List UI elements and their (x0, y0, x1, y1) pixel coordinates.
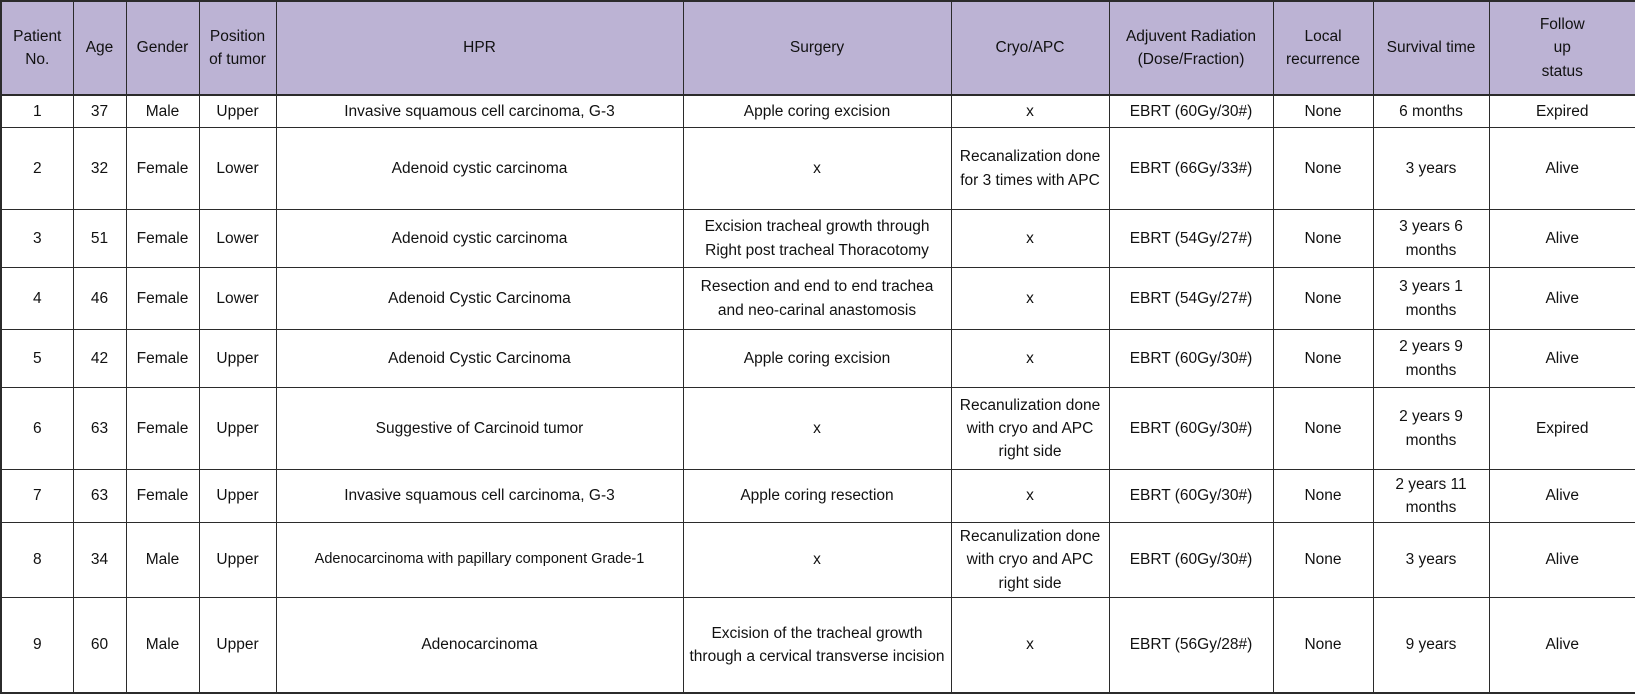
cell-position-of-tumor: Lower (199, 210, 276, 268)
cell-surgery: Excision of the tracheal growth through … (683, 597, 951, 693)
cell-adjuvent-radiation: EBRT (66Gy/33#) (1109, 128, 1273, 210)
column-header-position-of-tumor: Position of tumor (199, 1, 276, 95)
table-row: 9 60 Male Upper Adenocarcinoma Excision … (1, 597, 1635, 693)
column-header-survival-time: Survival time (1373, 1, 1489, 95)
cell-position-of-tumor: Upper (199, 523, 276, 598)
table-row: 7 63 Female Upper Invasive squamous cell… (1, 470, 1635, 523)
cell-survival-time: 3 years (1373, 523, 1489, 598)
table-body: 1 37 Male Upper Invasive squamous cell c… (1, 95, 1635, 693)
cell-gender: Female (126, 470, 199, 523)
cell-follow-up-status: Alive (1489, 210, 1635, 268)
cell-hpr: Invasive squamous cell carcinoma, G-3 (276, 470, 683, 523)
cell-adjuvent-radiation: EBRT (60Gy/30#) (1109, 388, 1273, 470)
cell-follow-up-status: Alive (1489, 597, 1635, 693)
header-line: Gender (137, 39, 189, 56)
cell-age: 42 (73, 330, 126, 388)
header-line: No. (25, 51, 49, 68)
cell-adjuvent-radiation: EBRT (60Gy/30#) (1109, 523, 1273, 598)
cell-patient-no: 3 (1, 210, 73, 268)
cell-gender: Female (126, 268, 199, 330)
cell-adjuvent-radiation: EBRT (56Gy/28#) (1109, 597, 1273, 693)
cell-gender: Male (126, 523, 199, 598)
header-line: up (1554, 39, 1571, 56)
cell-local-recurrence: None (1273, 95, 1373, 128)
cell-adjuvent-radiation: EBRT (60Gy/30#) (1109, 95, 1273, 128)
cell-hpr: Adenoid cystic carcinoma (276, 128, 683, 210)
cell-hpr: Invasive squamous cell carcinoma, G-3 (276, 95, 683, 128)
cell-surgery: Apple coring excision (683, 330, 951, 388)
header-line: Survival time (1387, 39, 1476, 56)
cell-follow-up-status: Alive (1489, 128, 1635, 210)
cell-cryo-apc: x (951, 470, 1109, 523)
table-row: 8 34 Male Upper Adenocarcinoma with papi… (1, 523, 1635, 598)
column-header-adjuvent-radiation: Adjuvent Radiation (Dose/Fraction) (1109, 1, 1273, 95)
cell-surgery: x (683, 128, 951, 210)
cell-position-of-tumor: Lower (199, 128, 276, 210)
cell-hpr: Adenoid Cystic Carcinoma (276, 330, 683, 388)
header-line: (Dose/Fraction) (1138, 51, 1245, 68)
cell-surgery: Excision tracheal growth through Right p… (683, 210, 951, 268)
header-line: Age (86, 39, 114, 56)
cell-follow-up-status: Alive (1489, 330, 1635, 388)
cell-surgery: Apple coring resection (683, 470, 951, 523)
cell-cryo-apc: Recanulization done with cryo and APC ri… (951, 388, 1109, 470)
table-row: 4 46 Female Lower Adenoid Cystic Carcino… (1, 268, 1635, 330)
header-line: HPR (463, 39, 496, 56)
cell-local-recurrence: None (1273, 388, 1373, 470)
column-header-gender: Gender (126, 1, 199, 95)
cell-position-of-tumor: Upper (199, 597, 276, 693)
header-line: Position (210, 28, 265, 45)
cell-local-recurrence: None (1273, 330, 1373, 388)
cell-surgery: Apple coring excision (683, 95, 951, 128)
cell-hpr: Adenoid cystic carcinoma (276, 210, 683, 268)
cell-survival-time: 2 years 11 months (1373, 470, 1489, 523)
cell-adjuvent-radiation: EBRT (54Gy/27#) (1109, 210, 1273, 268)
cell-gender: Female (126, 128, 199, 210)
table-row: 1 37 Male Upper Invasive squamous cell c… (1, 95, 1635, 128)
cell-follow-up-status: Alive (1489, 470, 1635, 523)
cell-patient-no: 4 (1, 268, 73, 330)
cell-survival-time: 3 years 1 months (1373, 268, 1489, 330)
cell-age: 34 (73, 523, 126, 598)
cell-gender: Male (126, 95, 199, 128)
column-header-surgery: Surgery (683, 1, 951, 95)
patient-clinical-data-table: Patient No. Age Gender Position of tumor… (0, 0, 1635, 694)
cell-position-of-tumor: Upper (199, 330, 276, 388)
cell-surgery: x (683, 523, 951, 598)
cell-survival-time: 2 years 9 months (1373, 388, 1489, 470)
header-row: Patient No. Age Gender Position of tumor… (1, 1, 1635, 95)
cell-patient-no: 5 (1, 330, 73, 388)
cell-patient-no: 9 (1, 597, 73, 693)
cell-position-of-tumor: Upper (199, 470, 276, 523)
cell-age: 60 (73, 597, 126, 693)
cell-local-recurrence: None (1273, 523, 1373, 598)
cell-patient-no: 8 (1, 523, 73, 598)
cell-patient-no: 1 (1, 95, 73, 128)
cell-gender: Female (126, 330, 199, 388)
cell-survival-time: 9 years (1373, 597, 1489, 693)
cell-cryo-apc: x (951, 268, 1109, 330)
cell-gender: Female (126, 210, 199, 268)
cell-adjuvent-radiation: EBRT (60Gy/30#) (1109, 330, 1273, 388)
table-row: 5 42 Female Upper Adenoid Cystic Carcino… (1, 330, 1635, 388)
cell-adjuvent-radiation: EBRT (60Gy/30#) (1109, 470, 1273, 523)
cell-cryo-apc: x (951, 330, 1109, 388)
cell-cryo-apc: x (951, 210, 1109, 268)
header-line: Patient (13, 28, 61, 45)
cell-local-recurrence: None (1273, 268, 1373, 330)
cell-survival-time: 6 months (1373, 95, 1489, 128)
cell-cryo-apc: x (951, 95, 1109, 128)
column-header-age: Age (73, 1, 126, 95)
cell-survival-time: 2 years 9 months (1373, 330, 1489, 388)
cell-surgery: x (683, 388, 951, 470)
cell-age: 63 (73, 470, 126, 523)
header-line: recurrence (1286, 51, 1360, 68)
column-header-patient-no: Patient No. (1, 1, 73, 95)
cell-patient-no: 2 (1, 128, 73, 210)
cell-gender: Male (126, 597, 199, 693)
cell-age: 63 (73, 388, 126, 470)
cell-surgery: Resection and end to end trachea and neo… (683, 268, 951, 330)
cell-hpr: Adenocarcinoma (276, 597, 683, 693)
header-line: Surgery (790, 39, 844, 56)
cell-age: 51 (73, 210, 126, 268)
table-row: 6 63 Female Upper Suggestive of Carcinoi… (1, 388, 1635, 470)
column-header-hpr: HPR (276, 1, 683, 95)
cell-hpr: Suggestive of Carcinoid tumor (276, 388, 683, 470)
table-header: Patient No. Age Gender Position of tumor… (1, 1, 1635, 95)
cell-follow-up-status: Expired (1489, 388, 1635, 470)
cell-cryo-apc: Recanulization done with cryo and APC ri… (951, 523, 1109, 598)
cell-age: 46 (73, 268, 126, 330)
column-header-local-recurrence: Local recurrence (1273, 1, 1373, 95)
cell-hpr: Adenocarcinoma with papillary component … (276, 523, 683, 598)
table-row: 2 32 Female Lower Adenoid cystic carcino… (1, 128, 1635, 210)
header-line: status (1542, 63, 1583, 80)
cell-local-recurrence: None (1273, 210, 1373, 268)
cell-survival-time: 3 years 6 months (1373, 210, 1489, 268)
table-row: 3 51 Female Lower Adenoid cystic carcino… (1, 210, 1635, 268)
cell-survival-time: 3 years (1373, 128, 1489, 210)
cell-local-recurrence: None (1273, 597, 1373, 693)
header-line: Adjuvent Radiation (1126, 28, 1256, 45)
cell-position-of-tumor: Upper (199, 95, 276, 128)
cell-follow-up-status: Expired (1489, 95, 1635, 128)
cell-position-of-tumor: Lower (199, 268, 276, 330)
cell-adjuvent-radiation: EBRT (54Gy/27#) (1109, 268, 1273, 330)
cell-position-of-tumor: Upper (199, 388, 276, 470)
header-line: Follow (1540, 16, 1585, 33)
header-line: Cryo/APC (996, 39, 1065, 56)
cell-follow-up-status: Alive (1489, 523, 1635, 598)
column-header-follow-up-status: Follow up status (1489, 1, 1635, 95)
cell-local-recurrence: None (1273, 128, 1373, 210)
header-line: of tumor (209, 51, 266, 68)
cell-cryo-apc: x (951, 597, 1109, 693)
cell-follow-up-status: Alive (1489, 268, 1635, 330)
cell-local-recurrence: None (1273, 470, 1373, 523)
cell-patient-no: 6 (1, 388, 73, 470)
cell-patient-no: 7 (1, 470, 73, 523)
cell-hpr: Adenoid Cystic Carcinoma (276, 268, 683, 330)
cell-gender: Female (126, 388, 199, 470)
cell-age: 32 (73, 128, 126, 210)
column-header-cryo-apc: Cryo/APC (951, 1, 1109, 95)
header-line: Local (1304, 28, 1341, 45)
cell-age: 37 (73, 95, 126, 128)
clinical-table-container: Patient No. Age Gender Position of tumor… (0, 0, 1635, 658)
cell-cryo-apc: Recanalization done for 3 times with APC (951, 128, 1109, 210)
